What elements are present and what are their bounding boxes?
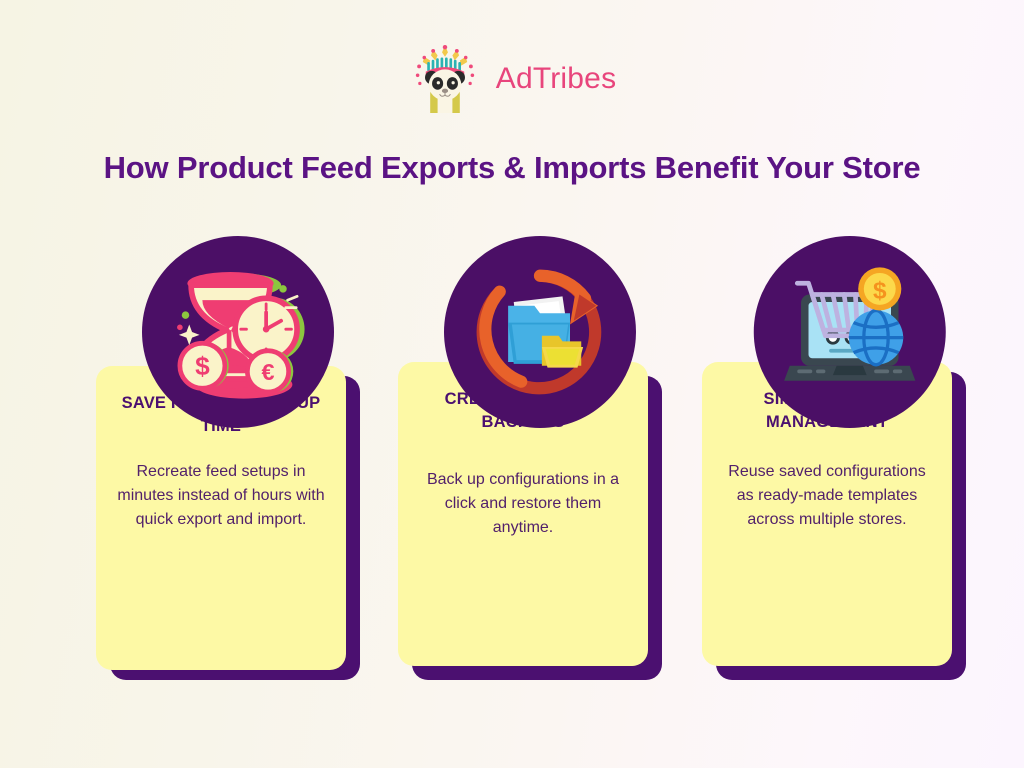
hourglass-clock-coins-icon: $ € xyxy=(163,257,313,407)
svg-text:$: $ xyxy=(873,277,887,304)
panda-headdress-logo-icon xyxy=(408,42,482,116)
benefit-card-reliable-backups: CREATE RELIABLE BACKUPS Back up configur… xyxy=(390,236,690,696)
brand-name: AdTribes xyxy=(496,64,617,94)
card-body: Back up configurations in a click and re… xyxy=(414,468,632,541)
card-body: Recreate feed setups in minutes instead … xyxy=(112,460,330,533)
benefit-cards-row: $ € SAVE HOURS OF SET xyxy=(0,236,1024,696)
icon-circle-1: $ € xyxy=(142,236,334,428)
icon-circle-3: $ xyxy=(754,236,946,428)
benefit-card-save-hours: $ € SAVE HOURS OF SET xyxy=(88,236,388,696)
svg-text:$: $ xyxy=(195,351,210,381)
folder-backup-refresh-icon xyxy=(465,257,615,407)
card-body: Reuse saved configurations as ready-made… xyxy=(718,460,936,533)
brand-logo-lockup: AdTribes xyxy=(0,42,1024,116)
benefit-card-simplify-feed: $ SIMPLIFY FEED MANAGEMENT Reuse saved c… xyxy=(694,236,994,696)
svg-text:€: € xyxy=(261,359,274,385)
page-title: How Product Feed Exports & Imports Benef… xyxy=(0,150,1024,186)
laptop-cart-globe-coin-icon: $ xyxy=(775,257,925,407)
icon-circle-2 xyxy=(444,236,636,428)
